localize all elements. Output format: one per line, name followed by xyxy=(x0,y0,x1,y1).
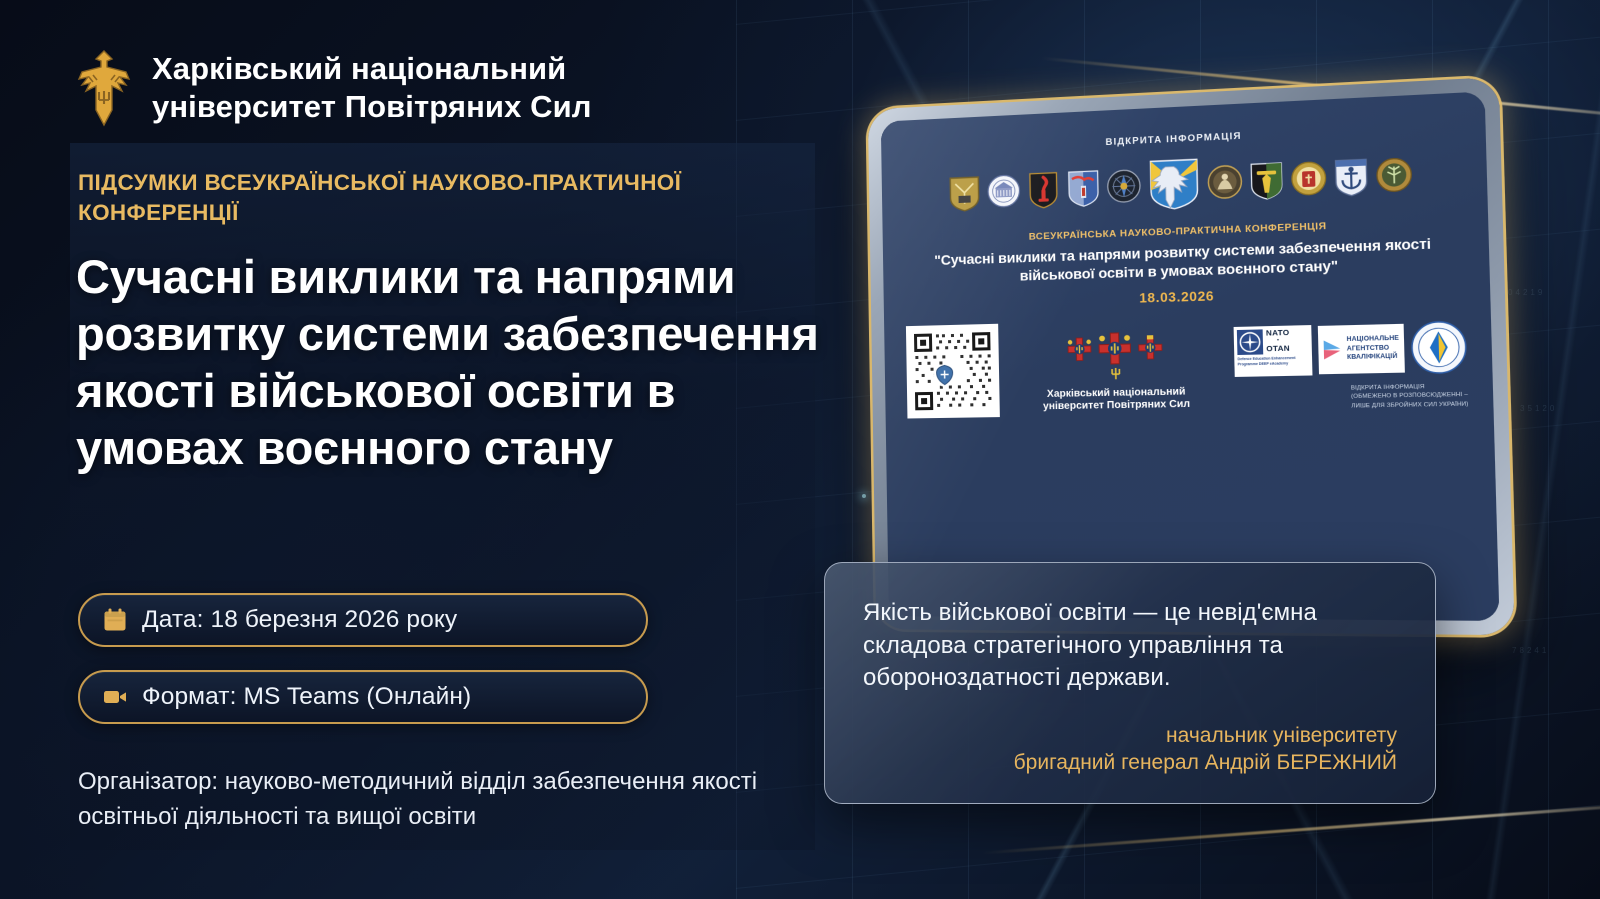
nato-deep-subtitle: Defence Education Enhancement Programme … xyxy=(1237,355,1308,367)
slide-restriction-note: ВІДКРИТА ІНФОРМАЦІЯ (ОБМЕЖЕНО В РОЗПОВСЮ… xyxy=(1351,382,1469,411)
general-staff-cross-icon xyxy=(1097,330,1133,366)
info-pill-date: Дата: 18 березня 2026 року xyxy=(78,593,648,647)
emblem-dark-round-comms-icon xyxy=(1106,166,1142,206)
quote-attribution-role: начальник університету xyxy=(1014,722,1397,750)
left-column: Харківський національний університет Пов… xyxy=(0,0,840,899)
laptop-screen-frame: ВІДКРИТА ІНФОРМАЦІЯ xyxy=(881,91,1500,620)
partner-logos-row: NATO • OTAN Defence Education Enhancemen… xyxy=(1234,320,1468,378)
poster-canvas: 0 4 2 1 9 3 5 1 2 0 7 8 2 4 1 Харківськи… xyxy=(0,0,1600,899)
restriction-line3: ЛИШЕ ДЛЯ ЗБРОЙНИХ СИЛ УКРАЇНИ) xyxy=(1351,400,1468,411)
qr-code-icon xyxy=(911,329,995,413)
quote-attribution-name: бригадний генерал Андрій БЕРЕЖНИЙ xyxy=(1014,749,1397,777)
emblem-bronze-round-icon xyxy=(1206,162,1243,203)
nato-label-line2: OTAN xyxy=(1266,344,1290,354)
armed-forces-cross-icon xyxy=(1066,335,1093,362)
video-camera-icon xyxy=(102,684,128,710)
naqa-label-line1: НАЦІОНАЛЬНЕ xyxy=(1346,335,1399,345)
emblem-black-red-torch-icon xyxy=(1026,169,1061,209)
quote-attribution: начальник університету бригадний генерал… xyxy=(1014,722,1397,777)
emblem-blue-white-eagle-icon xyxy=(1066,168,1102,208)
info-pill-format-label: Формат: MS Teams (Онлайн) xyxy=(142,683,471,711)
university-trident-icon xyxy=(1110,368,1120,382)
falcon-trident-emblem-icon xyxy=(76,48,132,128)
background-micro-text: 0 4 2 1 9 xyxy=(1508,288,1543,297)
emblem-gold-shield-icon xyxy=(947,173,982,213)
naqa-logo: НАЦІОНАЛЬНЕ АГЕНТСТВО КВАЛІФІКАЦІЙ xyxy=(1318,324,1405,374)
national-agency-seal-icon xyxy=(1410,320,1467,375)
background-node-dot xyxy=(862,494,866,498)
ministry-crosses-row xyxy=(1066,330,1165,367)
emblem-green-black-sword-icon xyxy=(1248,160,1285,201)
naqa-arrow-icon xyxy=(1321,337,1344,363)
slide-right-logos: NATO • OTAN Defence Education Enhancemen… xyxy=(1233,311,1468,412)
emblem-navy-anchor-icon xyxy=(1332,156,1370,197)
quote-card: Якість військової освіти — це невід'ємна… xyxy=(824,562,1436,804)
brand-name-line2: університет Повітряних Сил xyxy=(152,88,592,126)
nato-star-icon xyxy=(1237,329,1263,355)
quote-text: Якість військової освіти — це невід'ємна… xyxy=(863,597,1397,695)
command-cross-icon xyxy=(1136,334,1164,361)
emblem-air-force-falcon-icon xyxy=(1146,157,1202,211)
slide-emblem-row xyxy=(895,145,1471,220)
calendar-icon xyxy=(102,607,128,633)
emblem-gold-round-red-icon xyxy=(1290,158,1328,199)
slide-footer: Харківський національний університет Пов… xyxy=(898,311,1478,418)
background-micro-text: 7 8 2 4 1 xyxy=(1512,646,1547,655)
naqa-label-line3: КВАЛІФІКАЦІЙ xyxy=(1347,353,1400,363)
laptop-mockup: ВІДКРИТА ІНФОРМАЦІЯ xyxy=(868,77,1515,635)
emblem-olive-round-wreath-icon xyxy=(1375,154,1414,196)
university-brand-name: Харківський національний університет Пов… xyxy=(152,50,592,126)
university-brand: Харківський національний університет Пов… xyxy=(76,48,592,128)
info-pill-date-label: Дата: 18 березня 2026 року xyxy=(142,606,457,634)
naqa-label: НАЦІОНАЛЬНЕ АГЕНТСТВО КВАЛІФІКАЦІЙ xyxy=(1346,335,1399,363)
info-pill-format: Формат: MS Teams (Онлайн) xyxy=(78,670,648,724)
qr-code[interactable] xyxy=(906,324,1000,419)
page-title: Сучасні виклики та напрями розвитку сист… xyxy=(76,249,836,476)
slide-university-name-line2: університет Повітряних Сил xyxy=(1043,399,1190,414)
slide-university-name: Харківський національний університет Пов… xyxy=(1043,386,1190,414)
emblem-white-round-academy-icon xyxy=(986,171,1021,211)
background-micro-text: 3 5 1 2 0 xyxy=(1520,404,1555,413)
organizer-text: Організатор: науково-методичний відділ з… xyxy=(78,765,808,835)
presentation-slide: ВІДКРИТА ІНФОРМАЦІЯ xyxy=(881,91,1500,620)
brand-name-line1: Харківський національний xyxy=(152,50,592,88)
nato-logo: NATO • OTAN Defence Education Enhancemen… xyxy=(1234,325,1313,377)
slide-center-logos: Харківський національний університет Пов… xyxy=(1041,319,1190,414)
eyebrow-text: ПІДСУМКИ ВСЕУКРАЇНСЬКОЇ НАУКОВО-ПРАКТИЧН… xyxy=(78,168,778,227)
